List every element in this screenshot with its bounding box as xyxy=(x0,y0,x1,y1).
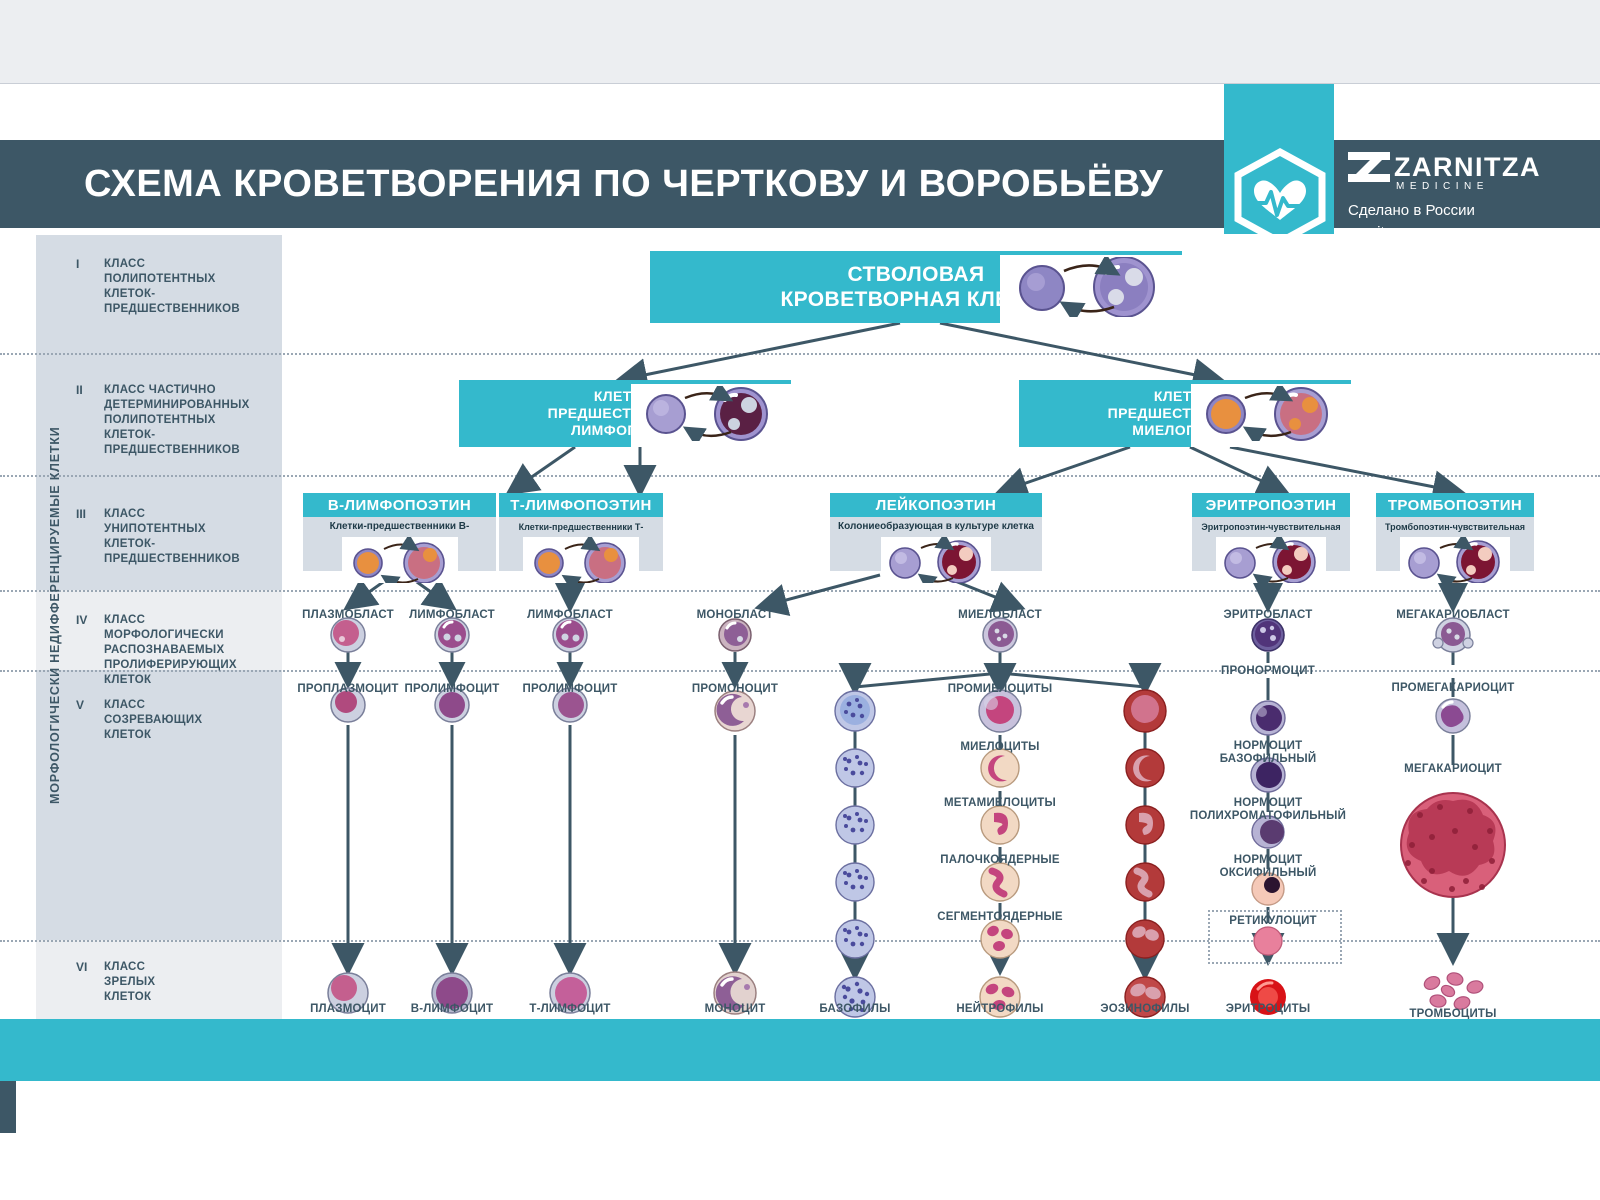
cell-thrombocytes xyxy=(1422,971,1484,1011)
label-erythroblast: ЭРИТРОБЛАСТ xyxy=(1208,609,1328,622)
diagram-canvas: МОРФОЛОГИЧЕСКИ НЕДИФФЕРЕНЦИРУЕМЫЕ КЛЕТКИ… xyxy=(0,235,1600,1019)
label-metamyelocytes: МЕТАМИЕЛОЦИТЫ xyxy=(930,797,1070,810)
class-text-1: КЛАСС ПОЛИПОТЕНТНЫХ КЛЕТОК-ПРЕДШЕСТВЕННИ… xyxy=(104,257,240,317)
cell-basophil-segmented xyxy=(836,920,874,958)
heart-pulse-hex-icon xyxy=(1228,148,1332,244)
cell-neutrophil-myelocyte xyxy=(981,749,1019,787)
label-plasmocyte: ПЛАЗМОЦИТ xyxy=(288,1003,408,1016)
cell-pronormocyte xyxy=(1251,701,1285,735)
label-promonocyte: ПРОМОНОЦИТ xyxy=(675,683,795,696)
top-white-band xyxy=(0,84,1600,140)
label-normocyte-oxyphilic: НОРМОЦИТ ОКСИФИЛЬНЫЙ xyxy=(1203,854,1333,880)
label-b-lymphocyte: В-ЛИМФОЦИТ xyxy=(392,1003,512,1016)
label-normocyte-polychromatophilic: НОРМОЦИТ ПОЛИХРОМАТОФИЛЬНЫЙ xyxy=(1188,797,1348,823)
card-image-erythropoietin xyxy=(1216,537,1326,583)
label-proplasmocyte: ПРОПЛАЗМОЦИТ xyxy=(288,683,408,696)
lymphopoiesis-image xyxy=(631,384,791,447)
cell-promonocyte xyxy=(715,691,755,731)
label-prolymphocyte-b: ПРОЛИМФОЦИТ xyxy=(392,683,512,696)
brand-subtitle: MEDICINE xyxy=(1396,181,1489,192)
label-normocyte-basophilic: НОРМОЦИТ БАЗОФИЛЬНЫЙ xyxy=(1203,740,1333,766)
bottom-white-band xyxy=(0,1081,1600,1200)
card-image-t-lymphopoietin xyxy=(523,537,639,583)
cell-erythroblast xyxy=(1252,619,1284,651)
class-text-3: КЛАСС УНИПОТЕНТНЫХ КЛЕТОК-ПРЕДШЕСТВЕННИК… xyxy=(104,507,240,567)
label-plasmoblast: ПЛАЗМОБЛАСТ xyxy=(288,609,408,622)
class-roman-5: V xyxy=(76,698,102,712)
label-myeloblast: МИЕЛОБЛАСТ xyxy=(940,609,1060,622)
cell-monoblast xyxy=(719,619,751,651)
label-promyelocytes: ПРОМИЕЛОЦИТЫ xyxy=(940,683,1060,696)
cell-megakaryoblast xyxy=(1433,618,1473,652)
cell-basophil-myelocyte xyxy=(836,749,874,787)
class-roman-2: II xyxy=(76,383,102,397)
class-text-4: КЛАСС МОРФОЛОГИЧЕСКИ РАСПОЗНАВАЕМЫХ ПРОЛ… xyxy=(104,613,237,688)
myelopoiesis-image xyxy=(1191,384,1351,447)
card-leukopoietin[interactable]: ЛЕЙКОПОЭТИН Колониеобразующая в культуре… xyxy=(830,493,1042,571)
bottom-teal-band xyxy=(0,1019,1600,1081)
cell-neutrophil-segmented xyxy=(981,920,1019,958)
card-image-thrombopoietin xyxy=(1400,537,1510,583)
class-text-5: КЛАСС СОЗРЕВАЮЩИХ КЛЕТОК xyxy=(104,698,202,743)
card-title-t-lymphopoietin: Т-ЛИМФОПОЭТИН xyxy=(499,493,663,517)
label-monoblast: МОНОБЛАСТ xyxy=(675,609,795,622)
cell-basophil-metamyelocyte xyxy=(836,806,874,844)
cell-neutrophil-band xyxy=(981,863,1019,901)
card-image-leukopoietin xyxy=(881,537,991,583)
card-title-erythropoietin: ЭРИТРОПОЭТИН xyxy=(1192,493,1350,517)
cell-megakaryocyte xyxy=(1401,793,1505,897)
label-reticulocyte: РЕТИКУЛОЦИТ xyxy=(1208,915,1338,928)
stem-cell-image xyxy=(1000,255,1182,323)
brand-made-in: Сделано в России xyxy=(1348,202,1475,219)
sidebar-vertical-label: МОРФОЛОГИЧЕСКИ НЕДИФФЕРЕНЦИРУЕМЫЕ КЛЕТКИ xyxy=(44,245,66,985)
cell-plasmoblast xyxy=(331,618,365,652)
label-megakaryocyte: МЕГАКАРИОЦИТ xyxy=(1383,763,1523,776)
label-promegakaryocyte: ПРОМЕГАКАРИОЦИТ xyxy=(1383,682,1523,695)
label-neutrophils: НЕЙТРОФИЛЫ xyxy=(940,1003,1060,1016)
label-segmented-cells: СЕГМЕНТОЯДЕРНЫЕ xyxy=(925,911,1075,924)
card-erythropoietin[interactable]: ЭРИТРОПОЭТИН Эритропоэтин-чувствительная… xyxy=(1192,493,1350,571)
card-sub-b-lymphopoietin: Клетки-предшественники В-лимфоцитов xyxy=(303,519,496,535)
label-pronormocyte: ПРОНОРМОЦИТ xyxy=(1208,665,1328,678)
cell-eosinophil-band xyxy=(1126,863,1164,901)
stem-cell-box[interactable]: СТВОЛОВАЯ КРОВЕТВОРНАЯ КЛЕТКА xyxy=(650,251,1182,323)
cell-eosinophil-metamyelocyte xyxy=(1126,806,1164,844)
cell-eosinophil-promyelocyte xyxy=(1124,690,1166,732)
cell-basophil-promyelocyte xyxy=(835,691,875,731)
brand-name: ZARNITZA xyxy=(1394,150,1541,184)
class-roman-3: III xyxy=(76,507,102,521)
card-title-leukopoietin: ЛЕЙКОПОЭТИН xyxy=(830,493,1042,517)
cell-neutrophil-promyelocyte xyxy=(979,690,1021,732)
cell-basophil-band xyxy=(836,863,874,901)
class-roman-6: VI xyxy=(76,960,102,974)
cell-lymphoblast-b xyxy=(435,618,469,652)
label-lymphoblast-t: ЛИМФОБЛАСТ xyxy=(510,609,630,622)
brand-logo: ZARNITZA MEDICINE xyxy=(1348,150,1578,184)
card-sub-thrombopoietin: Тромбопоэтин-чувствительная клетка xyxy=(1376,519,1534,535)
card-t-lymphopoietin[interactable]: Т-ЛИМФОПОЭТИН Клетки-предшественники Т-л… xyxy=(499,493,663,571)
bottom-left-marker xyxy=(0,1081,16,1133)
label-myelocytes: МИЕЛОЦИТЫ xyxy=(940,741,1060,754)
lymphopoiesis-precursor-box[interactable]: КЛЕТКИ- ПРЕДШЕСТВЕННИКИ ЛИМФОПОЭЗА xyxy=(459,380,791,447)
class-roman-1: I xyxy=(76,257,102,271)
card-title-thrombopoietin: ТРОМБОПОЭТИН xyxy=(1376,493,1534,517)
label-monocyte: МОНОЦИТ xyxy=(675,1003,795,1016)
poster-page: СХЕМА КРОВЕТВОРЕНИЯ ПО ЧЕРТКОВУ И ВОРОБЬ… xyxy=(0,0,1600,1200)
class-roman-4: IV xyxy=(76,613,102,627)
class-text-6: КЛАСС ЗРЕЛЫХ КЛЕТОК xyxy=(104,960,155,1005)
myelopoiesis-precursor-box[interactable]: КЛЕТКИ- ПРЕДШЕСТВЕННИКИ МИЕЛОПОЭЗА xyxy=(1019,380,1351,447)
cell-eosinophil-myelocyte xyxy=(1126,749,1164,787)
cell-myeloblast xyxy=(983,618,1017,652)
label-erythrocytes: ЭРИТРОЦИТЫ xyxy=(1208,1003,1328,1016)
label-prolymphocyte-t: ПРОЛИМФОЦИТ xyxy=(510,683,630,696)
page-title: СХЕМА КРОВЕТВОРЕНИЯ ПО ЧЕРТКОВУ И ВОРОБЬ… xyxy=(84,158,1214,210)
cell-eosinophil-segmented xyxy=(1126,920,1164,958)
label-eosinophils: ЭОЗИНОФИЛЫ xyxy=(1085,1003,1205,1016)
card-b-lymphopoietin[interactable]: В-ЛИМФОПОЭТИН Клетки-предшественники В-л… xyxy=(303,493,496,571)
cell-lymphoblast-t xyxy=(553,618,587,652)
card-sub-t-lymphopoietin: Клетки-предшественники Т-лимфоцитов xyxy=(499,519,663,535)
cell-promegakaryocyte xyxy=(1436,699,1470,733)
cell-neutrophil-metamyelocyte xyxy=(981,806,1019,844)
label-t-lymphocyte: Т-ЛИМФОЦИТ xyxy=(510,1003,630,1016)
top-gray-strip xyxy=(0,0,1600,84)
brand-block: ZARNITZA MEDICINE Сделано в России zarni… xyxy=(1348,150,1578,184)
label-band-cells: ПАЛОЧКОЯДЕРНЫЕ xyxy=(925,854,1075,867)
label-basophils: БАЗОФИЛЫ xyxy=(795,1003,915,1016)
zarnitza-z-icon xyxy=(1348,152,1390,182)
card-thrombopoietin[interactable]: ТРОМБОПОЭТИН Тромбопоэтин-чувствительная… xyxy=(1376,493,1534,571)
class-sidebar: МОРФОЛОГИЧЕСКИ НЕДИФФЕРЕНЦИРУЕМЫЕ КЛЕТКИ… xyxy=(36,235,282,1019)
label-megakaryoblast: МЕГАКАРИОБЛАСТ xyxy=(1383,609,1523,622)
card-sub-erythropoietin: Эритропоэтин-чувствительная клетка xyxy=(1192,519,1350,535)
class-text-2: КЛАСС ЧАСТИЧНО ДЕТЕРМИНИРОВАННЫХ ПОЛИПОТ… xyxy=(104,383,250,458)
label-lymphoblast-b: ЛИМФОБЛАСТ xyxy=(392,609,512,622)
card-sub-leukopoietin: Колониеобразующая в культуре клетка xyxy=(830,519,1042,535)
card-image-b-lymphopoietin xyxy=(342,537,458,583)
card-title-b-lymphopoietin: В-ЛИМФОПОЭТИН xyxy=(303,493,496,517)
